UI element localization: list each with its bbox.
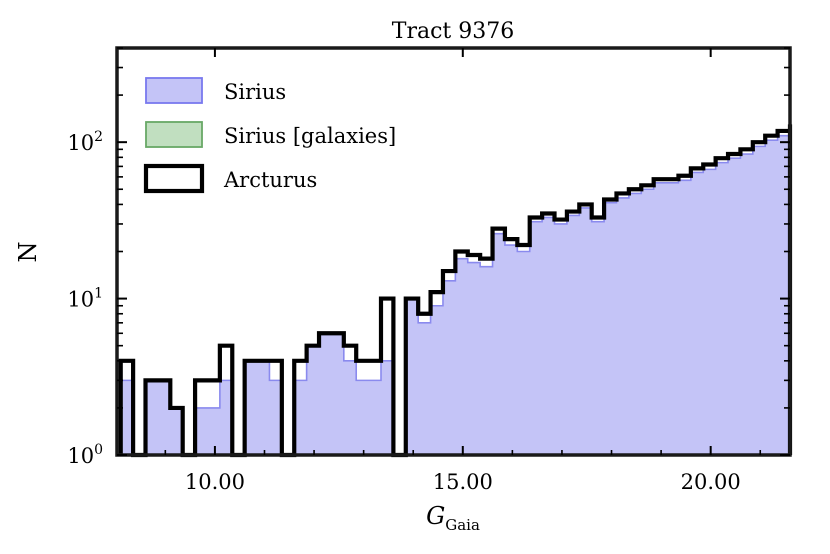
x-axis-label-main: G xyxy=(426,502,445,530)
legend-label: Sirius [galaxies] xyxy=(224,124,396,148)
legend-swatch xyxy=(146,78,202,103)
histogram-chart: Tract 9376 10.0015.0020.00 100101102 GGa… xyxy=(0,0,830,554)
x-tick-label: 20.00 xyxy=(681,470,741,494)
x-tick-label: 15.00 xyxy=(433,470,493,494)
legend-label: Arcturus xyxy=(223,168,317,192)
figure-container: Tract 9376 10.0015.0020.00 100101102 GGa… xyxy=(0,0,830,554)
legend-label: Sirius xyxy=(224,80,286,104)
legend-swatch xyxy=(146,122,202,147)
x-axis-label-sub: Gaia xyxy=(445,516,480,534)
x-tick-label: 10.00 xyxy=(185,470,245,494)
y-axis-label: N xyxy=(14,242,42,263)
legend-swatch xyxy=(146,166,202,191)
chart-title: Tract 9376 xyxy=(392,19,514,44)
